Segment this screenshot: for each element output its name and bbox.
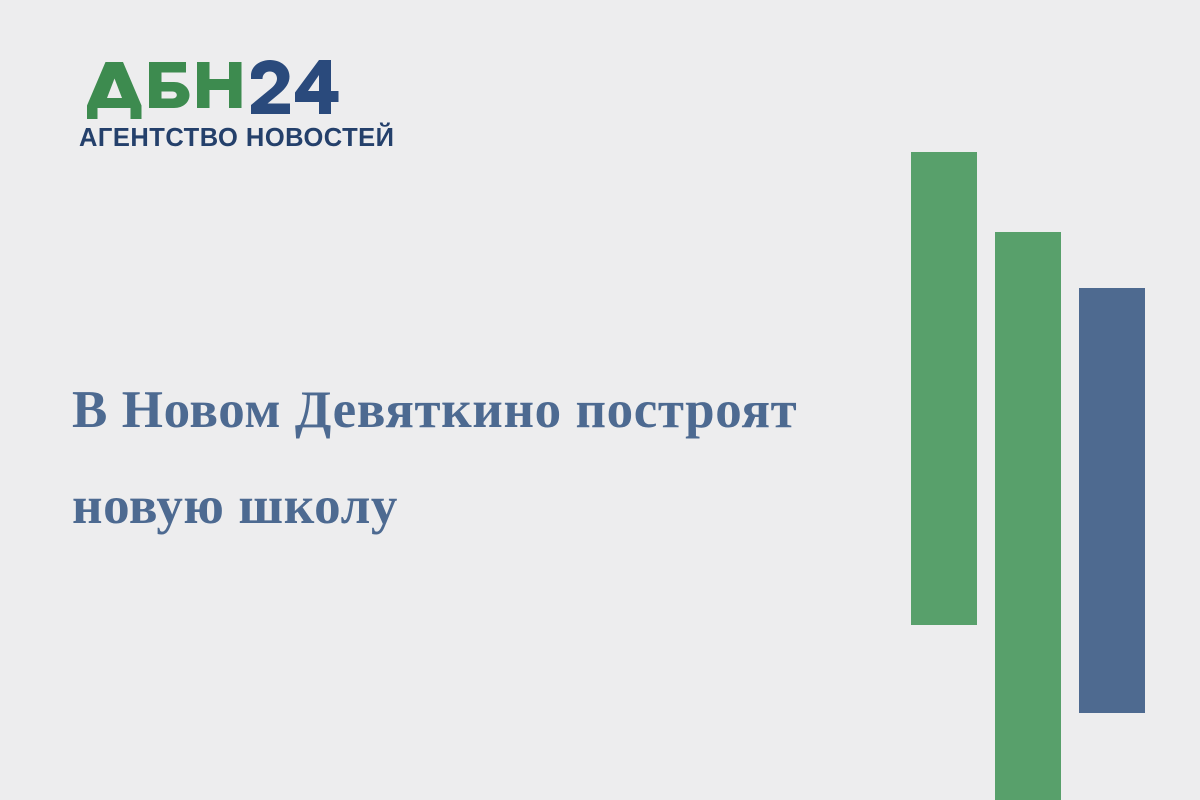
headline-line-2: новую школу [72,458,872,554]
chart-bar-1 [911,152,977,625]
chart-bar-3 [1079,288,1145,713]
logo-tagline: АГЕНТСТВО НОВОСТЕЙ [79,126,379,152]
headline-line-1: В Новом Девяткино построят [72,362,872,458]
chart-bar-2 [995,232,1061,800]
news-card: АГЕНТСТВО НОВОСТЕЙ В Новом Девяткино пос… [0,0,1200,800]
page-title: В Новом Девяткино построят новую школу [72,362,872,554]
brand-logo[interactable]: АГЕНТСТВО НОВОСТЕЙ [79,58,379,163]
abn24-wordmark-icon [79,58,357,120]
